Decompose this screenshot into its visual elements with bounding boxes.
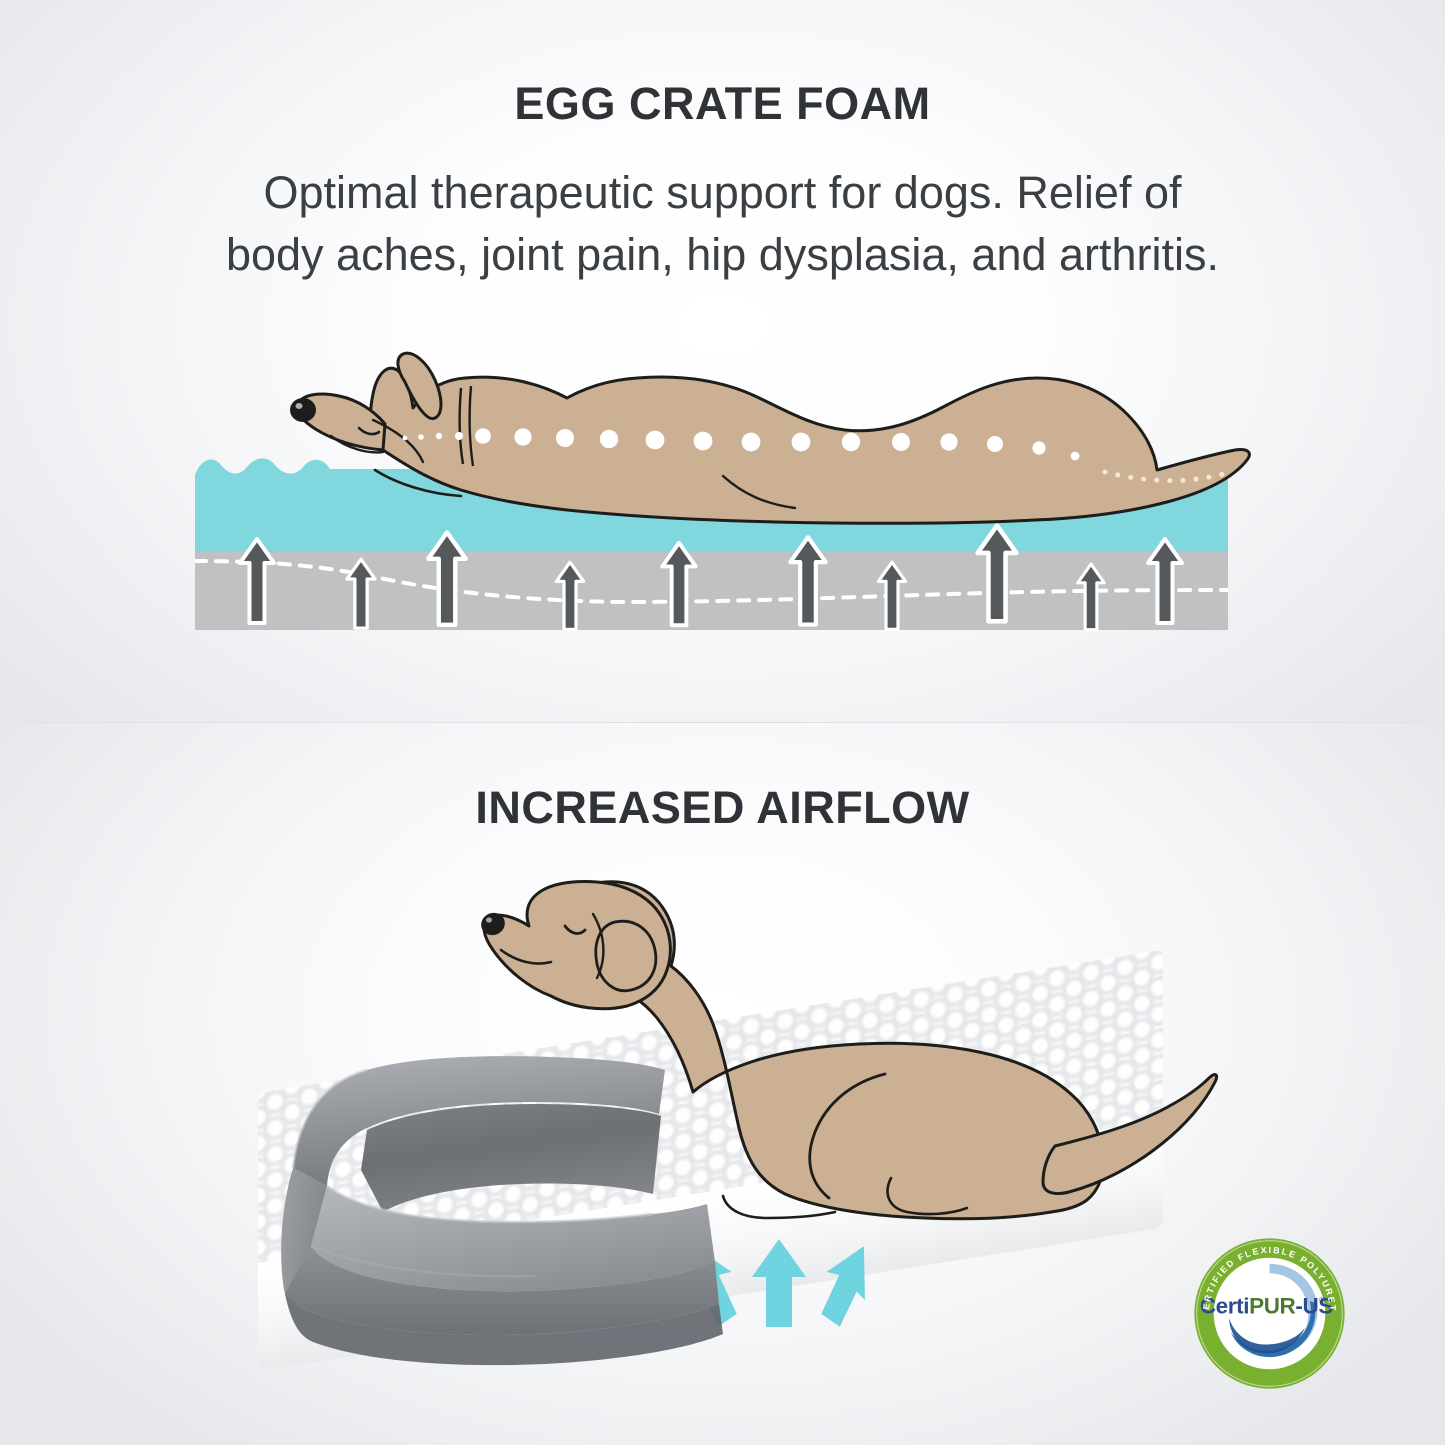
pressure-arrow [556, 562, 583, 629]
page-title-egg-crate-foam: EGG CRATE FOAM [0, 78, 1445, 130]
pressure-arrow [347, 559, 375, 628]
dog-nose-highlight [296, 403, 303, 409]
subtitle-line-1: Optimal therapeutic support for dogs. Re… [264, 167, 1182, 218]
badge-registered-mark: ® [1319, 1296, 1325, 1305]
dog-ear-sitting [596, 921, 656, 991]
badge-wordmark: CertiPUR-US [1200, 1294, 1333, 1319]
pressure-arrow [1078, 564, 1105, 630]
dog-body [371, 368, 1250, 523]
section-egg-crate-foam: EGG CRATE FOAM Optimal therapeutic suppo… [0, 0, 1445, 723]
certipur-us-certification-badge: CertiPUR-US ® CONTAINS CERTIFIED FLEXIBL… [1192, 1236, 1347, 1391]
pressure-arrow [878, 562, 905, 629]
subtitle-egg-crate-foam: Optimal therapeutic support for dogs. Re… [60, 162, 1385, 285]
dog-illustration-lying [255, 352, 1255, 557]
infographic-page: EGG CRATE FOAM Optimal therapeutic suppo… [0, 0, 1445, 1445]
dog-illustration-sitting [455, 878, 1235, 1278]
dog-nose [290, 398, 316, 422]
bolster-bed-scene: CertiPUR-US ® CONTAINS CERTIFIED FLEXIBL… [0, 723, 1445, 1445]
dog-nose-highlight-sitting [486, 917, 492, 922]
subtitle-line-2: body aches, joint pain, hip dysplasia, a… [226, 229, 1219, 280]
